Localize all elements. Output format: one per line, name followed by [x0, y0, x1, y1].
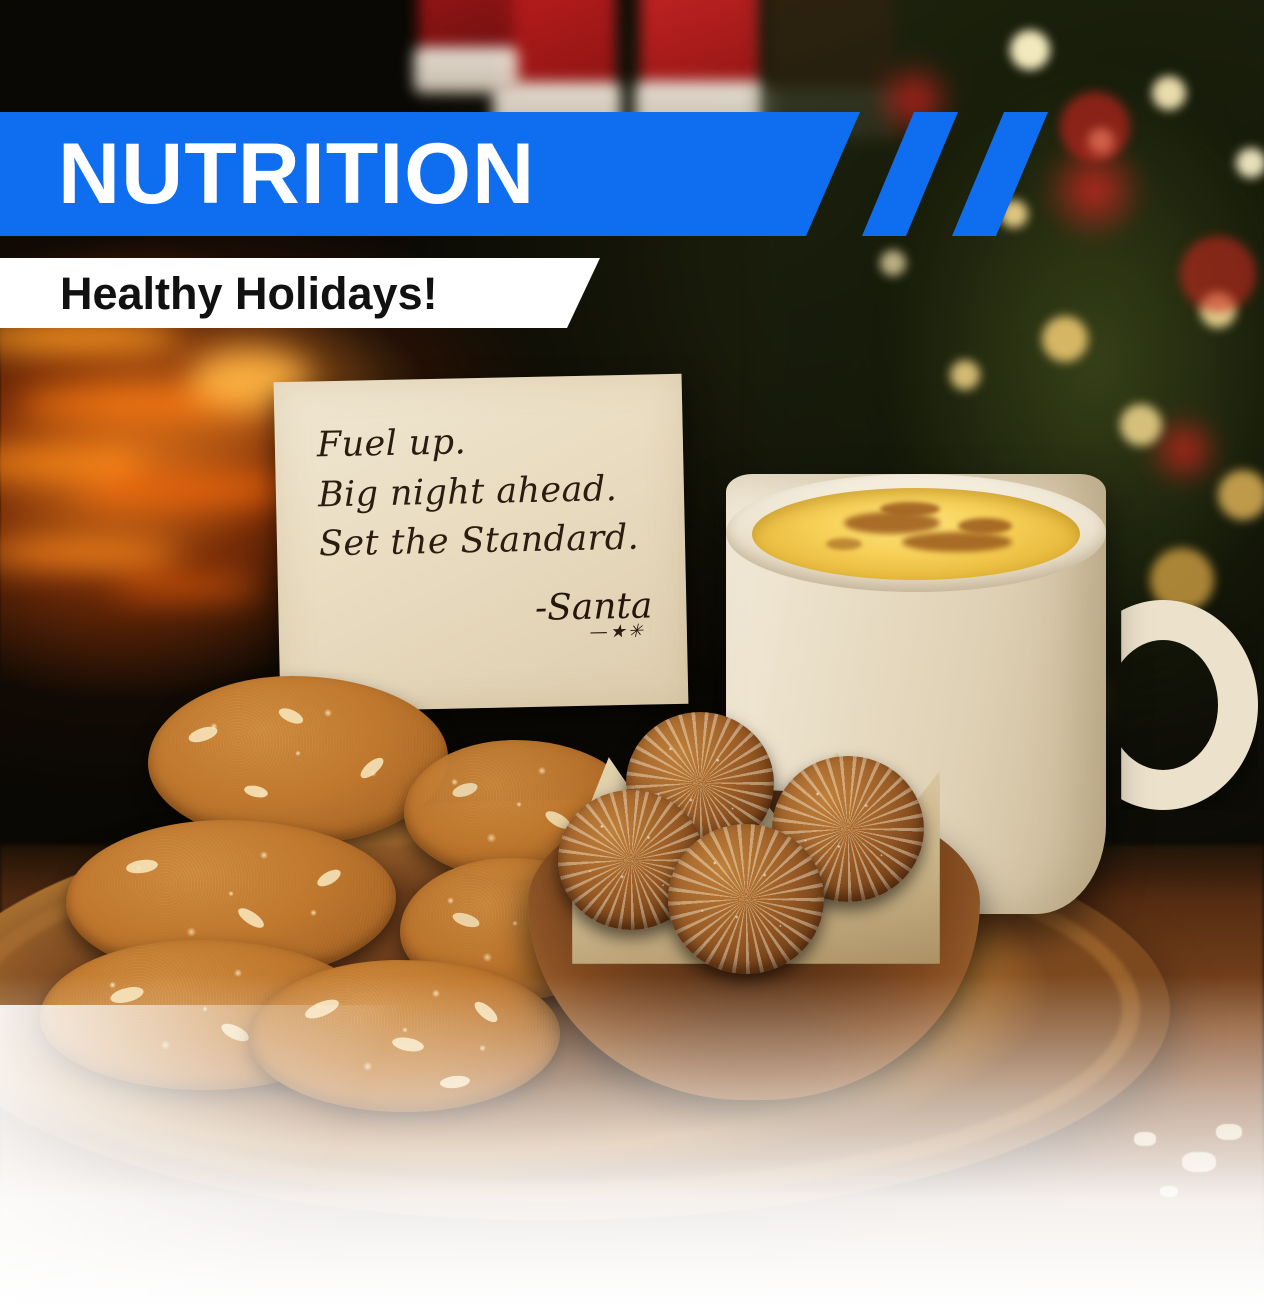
bokeh-light — [1010, 30, 1050, 70]
stocking-4 — [418, 0, 514, 85]
note-line-3: Set the Standard. — [318, 513, 667, 570]
nutrition-holiday-graphic: Fuel up. Big night ahead. Set the Standa… — [0, 0, 1264, 1305]
oatmeal-cookie — [148, 676, 448, 844]
bokeh-light — [1236, 148, 1264, 178]
bokeh-light — [1042, 316, 1088, 362]
energy-ball — [668, 824, 824, 974]
note-text-block: Fuel up. Big night ahead. Set the Standa… — [316, 414, 669, 648]
page-subtitle: Healthy Holidays! — [60, 271, 438, 316]
bokeh-light — [950, 360, 980, 390]
bokeh-ornament — [1180, 236, 1256, 312]
bokeh-light — [880, 250, 906, 276]
nutrition-banner: NUTRITION — [0, 112, 860, 236]
eggnog-surface — [752, 488, 1080, 580]
note-line-2: Big night ahead. — [317, 464, 666, 521]
note-line-1: Fuel up. — [316, 414, 665, 471]
page-title: NUTRITION — [58, 131, 535, 217]
santa-note-card: Fuel up. Big night ahead. Set the Standa… — [274, 374, 689, 712]
stocking-2 — [640, 0, 762, 126]
bokeh-ornament — [1060, 92, 1130, 162]
bokeh-light — [1152, 76, 1186, 110]
left-white-fade — [0, 1005, 420, 1305]
bokeh-light — [1120, 404, 1162, 446]
subtitle-banner: Healthy Holidays! — [0, 258, 600, 328]
bokeh-light — [1218, 470, 1264, 520]
